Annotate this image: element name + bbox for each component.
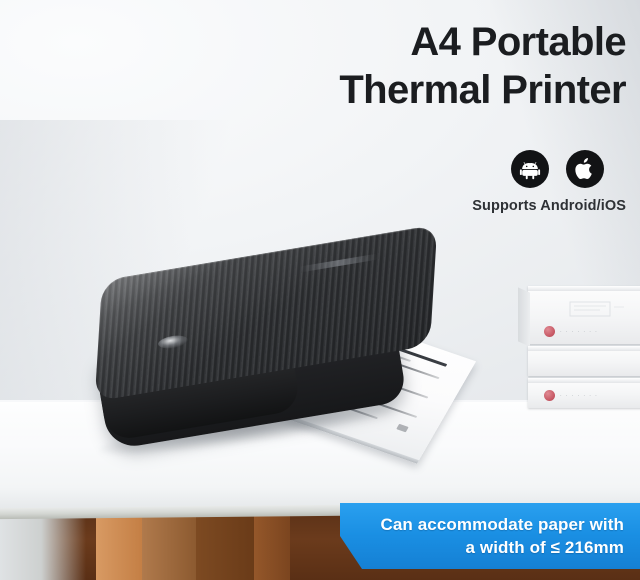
android-icon bbox=[519, 158, 541, 180]
product-banner-image: · · · · · · · · · · · · · · bbox=[0, 0, 640, 580]
paper-box-lid bbox=[528, 346, 640, 351]
paper-box bbox=[528, 346, 640, 376]
android-badge bbox=[511, 150, 549, 188]
supports-caption: Supports Android/iOS bbox=[326, 198, 626, 214]
apple-icon bbox=[575, 157, 596, 181]
brand-logo-icon bbox=[544, 390, 555, 401]
os-compatibility-badges bbox=[511, 150, 604, 188]
table-leg bbox=[96, 516, 142, 580]
paper-box-lid bbox=[528, 378, 640, 383]
floor-light-fade bbox=[0, 514, 86, 580]
paper-box-brand-text: · · · · · · · bbox=[560, 393, 598, 399]
headline-line-2: Thermal Printer bbox=[156, 66, 626, 114]
paper-box: · · · · · · · bbox=[528, 286, 640, 344]
brand-logo-icon bbox=[544, 326, 555, 337]
paper-box-brand-text: · · · · · · · bbox=[560, 329, 598, 335]
table-leg bbox=[254, 516, 290, 580]
banner-line-1: Can accommodate paper with bbox=[381, 515, 625, 534]
paper-box-artwork bbox=[562, 296, 628, 322]
paper-box-stack: · · · · · · · · · · · · · · bbox=[528, 286, 640, 408]
headline-line-1: A4 Portable bbox=[410, 20, 626, 64]
paper-box-side bbox=[518, 287, 530, 346]
paper-box-lid bbox=[528, 286, 640, 291]
paper-box-label: · · · · · · · bbox=[544, 326, 598, 337]
page-title: A4 Portable Thermal Printer bbox=[156, 18, 626, 114]
table-leg bbox=[196, 516, 254, 580]
thermal-printer-device bbox=[96, 248, 448, 458]
paper-box-label: · · · · · · · bbox=[544, 390, 598, 401]
apple-badge bbox=[566, 150, 604, 188]
banner-text: Can accommodate paper with a width of ≤ … bbox=[381, 513, 640, 559]
banner-line-2: a width of ≤ 216mm bbox=[381, 536, 625, 559]
paper-box: · · · · · · · bbox=[528, 378, 640, 408]
table-leg bbox=[142, 516, 196, 580]
paper-width-banner: Can accommodate paper with a width of ≤ … bbox=[340, 503, 640, 569]
